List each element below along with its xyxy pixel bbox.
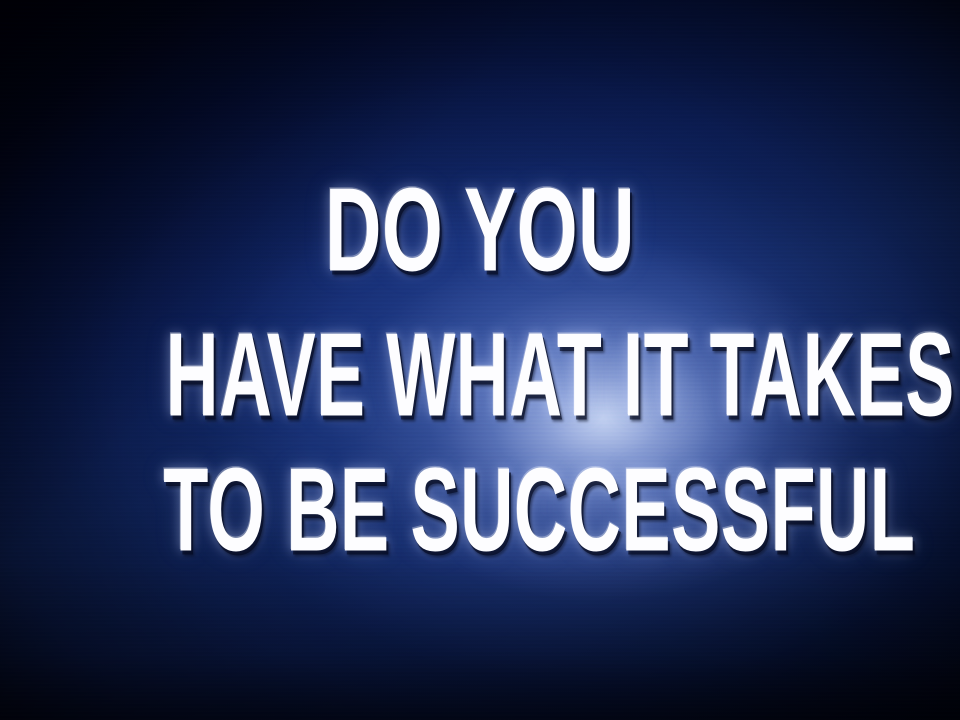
headline-block: DO YOU HAVE WHAT IT TAKES TO BE SUCCESSF…: [0, 0, 960, 720]
headline-line-1: DO YOU: [144, 171, 816, 290]
headline-line-3: TO BE SUCCESSFUL: [163, 451, 797, 570]
title-card-canvas: DO YOU HAVE WHAT IT TAKES TO BE SUCCESSF…: [0, 0, 960, 720]
headline-line-2: HAVE WHAT IT TAKES: [166, 316, 795, 435]
